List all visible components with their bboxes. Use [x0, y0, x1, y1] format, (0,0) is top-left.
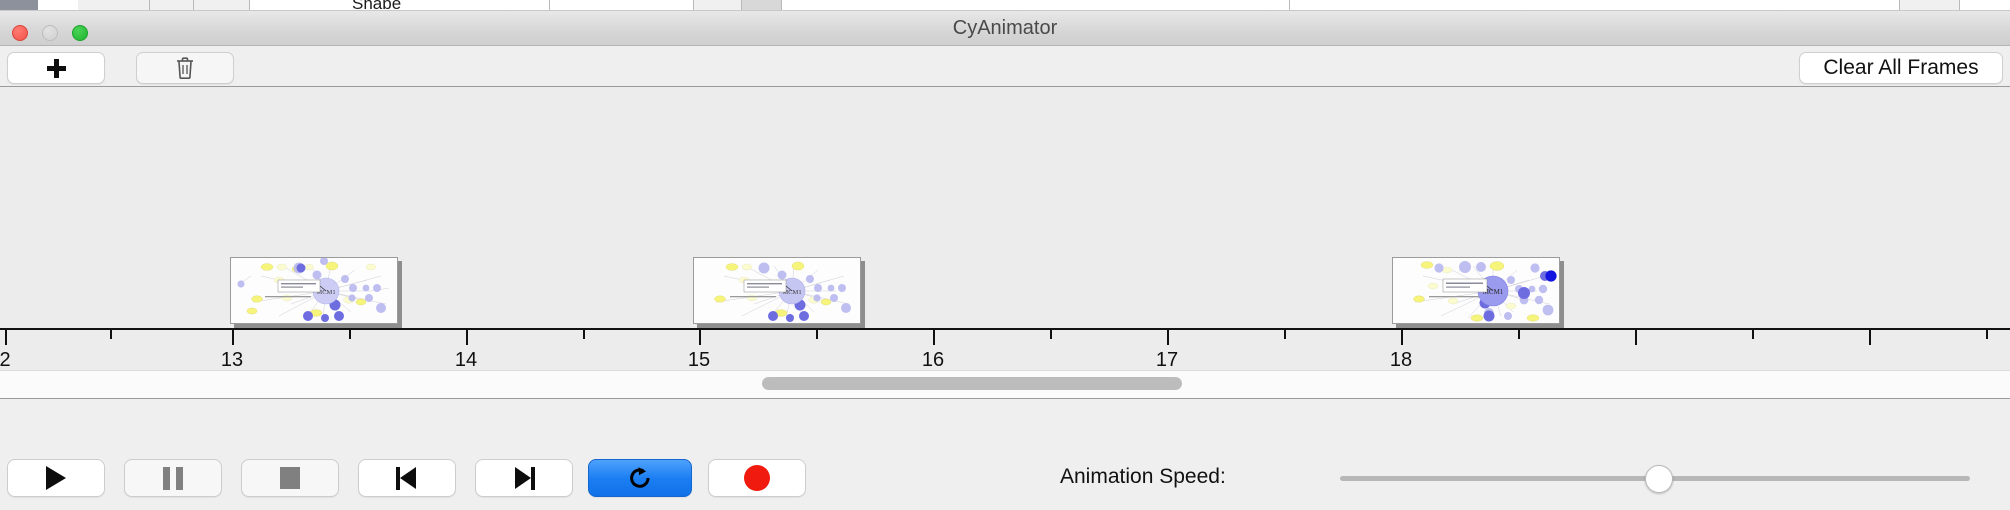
loop-button[interactable]: [588, 459, 692, 497]
play-icon: [46, 466, 66, 490]
stop-button[interactable]: [241, 459, 339, 497]
window-title: CyAnimator: [0, 11, 2010, 46]
axis-tick-major: [1869, 330, 1871, 345]
clear-all-frames-label: Clear All Frames: [1823, 56, 1978, 80]
cyanimator-window: Shape CyAnimator Clear All Frames: [0, 0, 2010, 510]
animation-speed-slider-thumb[interactable]: [1645, 465, 1673, 493]
axis-tick-label: 16: [922, 349, 944, 370]
play-button[interactable]: [7, 459, 105, 497]
axis-tick-major: [466, 330, 468, 345]
background-partial-label: Shape: [352, 0, 401, 9]
axis-tick-minor: [349, 330, 351, 339]
toolbar: Clear All Frames: [0, 46, 2010, 87]
axis-tick-label: 15: [688, 349, 710, 370]
axis-tick-label: 14: [455, 349, 477, 370]
playback-controls: Animation Speed:: [0, 398, 2010, 510]
axis-tick-major: [933, 330, 935, 345]
plus-icon: [46, 58, 66, 78]
timeline-frame[interactable]: MCM1: [1392, 257, 1564, 328]
add-frame-button[interactable]: [7, 52, 105, 84]
axis-tick-minor: [816, 330, 818, 339]
timeline-panel[interactable]: MCM1: [0, 87, 2010, 370]
axis-tick-label: 18: [1390, 349, 1412, 370]
axis-tick-minor: [583, 330, 585, 339]
axis-tick-major: [232, 330, 234, 345]
skip-back-button[interactable]: [358, 459, 456, 497]
timeline-frame[interactable]: MCM1: [693, 257, 865, 328]
scrollbar-thumb[interactable]: [762, 377, 1182, 390]
frame-thumbnail: MCM1: [230, 257, 398, 324]
frame-thumbnail: MCM1: [1392, 257, 1560, 324]
axis-tick-minor: [1518, 330, 1520, 339]
network-graph-icon: MCM1: [1393, 258, 1559, 323]
pause-button[interactable]: [124, 459, 222, 497]
network-graph-icon: MCM1: [231, 258, 397, 323]
stop-icon: [280, 467, 300, 489]
background-app-strip: Shape: [0, 0, 2010, 11]
axis-tick-major: [1167, 330, 1169, 345]
skip-forward-button[interactable]: [475, 459, 573, 497]
axis-tick-minor: [110, 330, 112, 339]
timeline-scrollbar[interactable]: [0, 370, 2010, 398]
timeline-axis: [0, 328, 2010, 330]
axis-tick-major: [1635, 330, 1637, 345]
clear-all-frames-button[interactable]: Clear All Frames: [1799, 52, 2003, 84]
axis-tick-minor: [1986, 330, 1988, 339]
axis-tick-major: [1401, 330, 1403, 345]
record-button[interactable]: [708, 459, 806, 497]
axis-tick-label: 13: [221, 349, 243, 370]
axis-tick-minor: [1050, 330, 1052, 339]
timeline-frame[interactable]: MCM1: [230, 257, 402, 328]
network-graph-icon: MCM1: [694, 258, 860, 323]
loop-icon: [627, 465, 653, 491]
animation-speed-label: Animation Speed:: [1060, 465, 1226, 489]
skip-back-icon: [396, 467, 418, 490]
record-icon: [744, 465, 770, 491]
pause-icon: [163, 467, 183, 490]
axis-tick-major: [699, 330, 701, 345]
delete-frame-button[interactable]: [136, 52, 234, 84]
axis-tick-major: [5, 330, 7, 345]
title-bar: CyAnimator: [0, 11, 2010, 46]
skip-forward-icon: [513, 467, 535, 490]
axis-tick-label: 2: [0, 349, 11, 370]
trash-icon: [176, 57, 194, 79]
axis-tick-minor: [1752, 330, 1754, 339]
axis-tick-label: 17: [1156, 349, 1178, 370]
axis-tick-minor: [1284, 330, 1286, 339]
frame-thumbnail: MCM1: [693, 257, 861, 324]
